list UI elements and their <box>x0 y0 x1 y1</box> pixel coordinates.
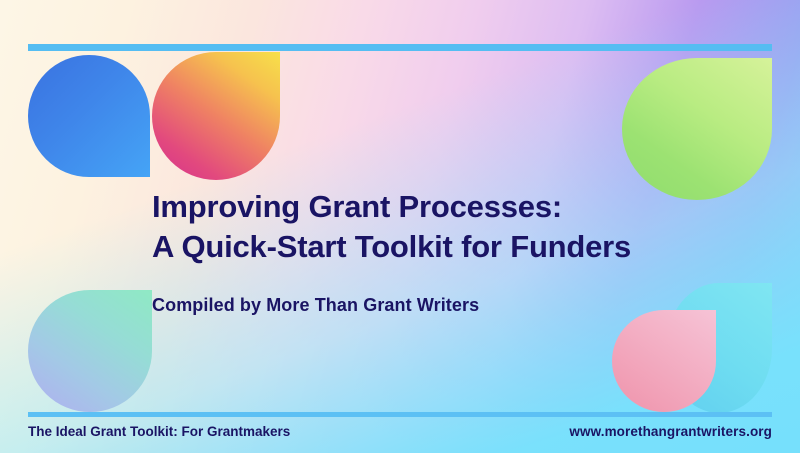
footer: The Ideal Grant Toolkit: For Grantmakers… <box>28 424 772 439</box>
green-leaf-shape-icon <box>622 58 772 200</box>
page-title-line-1: Improving Grant Processes: <box>152 187 752 227</box>
page-title-line-2: A Quick-Start Toolkit for Funders <box>152 227 752 267</box>
blue-leaf-shape-icon <box>28 55 150 177</box>
top-divider-rule <box>28 44 772 51</box>
footer-divider-rule <box>28 412 772 417</box>
pink-leaf-shape-icon <box>612 310 716 412</box>
slide-canvas: Improving Grant Processes: A Quick-Start… <box>0 0 800 453</box>
byline-text: Compiled by More Than Grant Writers <box>152 295 479 316</box>
footer-website-url[interactable]: www.morethangrantwriters.org <box>569 424 772 439</box>
sunset-leaf-shape-icon <box>152 52 280 180</box>
footer-series-label: The Ideal Grant Toolkit: For Grantmakers <box>28 424 290 439</box>
page-title: Improving Grant Processes: A Quick-Start… <box>152 187 752 268</box>
mint-leaf-shape-icon <box>28 290 152 412</box>
